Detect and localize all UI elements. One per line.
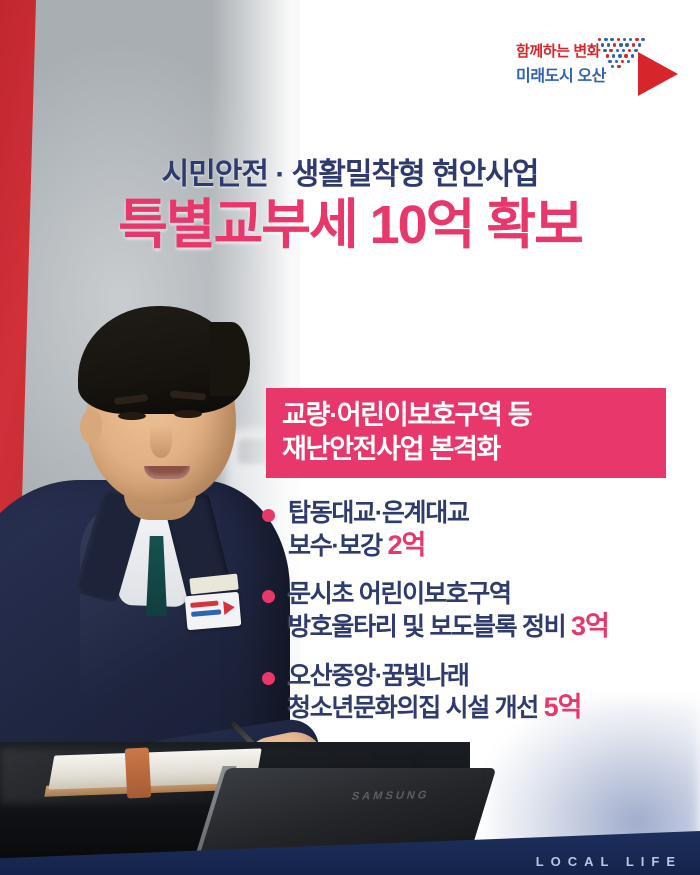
laptop-brand-label: SAMSUNG [350, 789, 431, 802]
list-item-description: 방호울타리 및 보도블록 정비 [288, 613, 571, 641]
logo-slogan-line2: 미래도시 오산 [516, 62, 606, 86]
list-item-description: 청소년문화의집 시설 개선 [288, 694, 544, 722]
list-item-line-1: 문시초 어린이보호구역 [288, 579, 692, 610]
list-item: 문시초 어린이보호구역 방호울타리 및 보도블록 정비 3억 [262, 579, 692, 642]
list-item-amount: 5억 [544, 692, 582, 722]
bullet-dot-icon [262, 590, 275, 603]
list-item: 탑동대교·은계대교 보수·보강 2억 [262, 498, 692, 561]
list-item-description: 보수·보강 [288, 532, 387, 560]
banner-line-2: 재난안전사업 본격화 [282, 432, 650, 466]
list-item-amount: 2억 [387, 530, 425, 560]
eye-right [174, 410, 202, 418]
ear [80, 410, 102, 444]
eye-left [118, 412, 146, 420]
badge-arrow-icon [223, 600, 235, 615]
logo-slogan-line1: 함께하는 변화 [516, 40, 600, 61]
list-item-line-1: 탑동대교·은계대교 [288, 498, 692, 529]
bullet-dot-icon [262, 672, 275, 685]
banner-line-1: 교량·어린이보호구역 등 [282, 398, 650, 432]
name-badge [185, 592, 242, 631]
list-item-line-2: 방호울타리 및 보도블록 정비 3억 [288, 610, 692, 643]
mouth [144, 466, 190, 479]
headline-block: 시민안전 · 생활밀착형 현안사업 특별교부세 10억 확보 [0, 158, 700, 254]
list-item: 오산중앙·꿈빛나래 청소년문화의집 시설 개선 5억 [262, 661, 692, 724]
hair [78, 306, 244, 414]
poster-canvas: SAMSUNG 함께하는 변화 미래도시 오산 시민안전 · 생활밀착형 현안사… [0, 0, 700, 875]
list-item-line-1: 오산중앙·꿈빛나래 [288, 661, 692, 692]
highlight-banner: 교량·어린이보호구역 등 재난안전사업 본격화 [266, 388, 666, 478]
headline-subtitle: 시민안전 · 생활밀착형 현안사업 [0, 158, 700, 192]
list-item-line-2: 보수·보강 2억 [288, 529, 692, 562]
footer-label: LOCAL LIFE [536, 854, 682, 869]
project-list: 탑동대교·은계대교 보수·보강 2억 문시초 어린이보호구역 방호울타리 및 보… [262, 498, 692, 742]
notebook-strap [125, 747, 152, 798]
list-item-amount: 3억 [571, 611, 609, 641]
city-logo: 함께하는 변화 미래도시 오산 [516, 38, 676, 100]
badge-red-bar [190, 601, 218, 608]
bullet-dot-icon [262, 509, 275, 522]
list-item-line-2: 청소년문화의집 시설 개선 5억 [288, 691, 692, 724]
headline-title: 특별교부세 10억 확보 [0, 196, 700, 254]
nose [150, 426, 172, 458]
badge-blue-bar [191, 609, 221, 617]
